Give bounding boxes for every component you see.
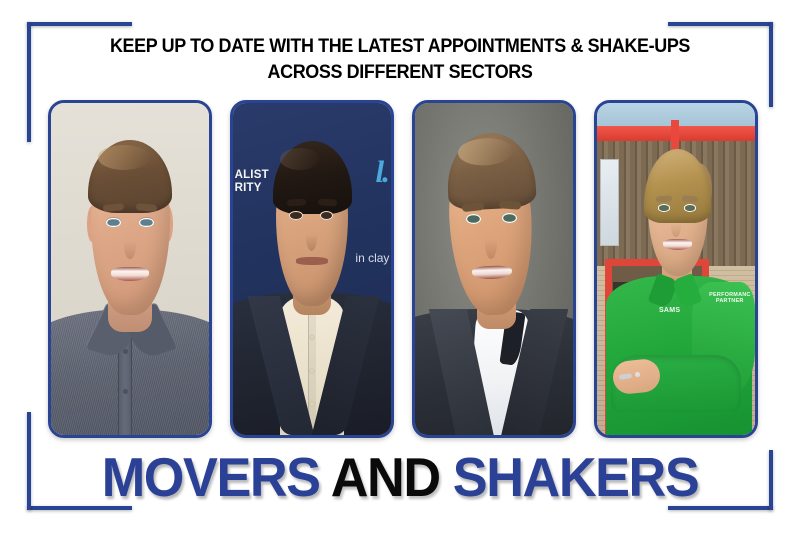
portrait-4-window xyxy=(600,159,619,245)
portrait-4-eye-left xyxy=(658,204,670,211)
portrait-4-eyebrow-right xyxy=(682,195,698,202)
portrait-3-nose xyxy=(485,226,498,259)
portrait-3-eyebrow-right xyxy=(498,200,521,209)
portrait-image-1 xyxy=(51,103,209,435)
portrait-image-3 xyxy=(415,103,573,435)
portrait-2-eye-left xyxy=(289,211,302,220)
portrait-gallery: l. ALIST RITY in clay xyxy=(48,100,754,438)
wordmark: MOVERS AND SHAKERS xyxy=(20,448,780,506)
portrait-card-3 xyxy=(412,100,576,438)
portrait-card-2: l. ALIST RITY in clay xyxy=(230,100,394,438)
wordmark-shakers: SHAKERS xyxy=(453,446,699,508)
portrait-1-eye-left xyxy=(106,218,120,228)
headline-text: KEEP UP TO DATE WITH THE LATEST APPOINTM… xyxy=(78,33,722,85)
portrait-4-red-post xyxy=(671,120,679,150)
portrait-4-nose xyxy=(671,214,680,237)
frame-segment-left-upper xyxy=(27,22,31,142)
frame-segment-right-upper xyxy=(769,22,773,107)
portrait-4-eye-right xyxy=(684,204,696,211)
portrait-image-4: SAMS PERFORMANCE PARTNER xyxy=(597,103,755,435)
poster-canvas: KEEP UP TO DATE WITH THE LATEST APPOINTM… xyxy=(0,0,800,533)
portrait-1-button-bottom xyxy=(123,389,128,394)
wordmark-and: AND xyxy=(331,446,453,508)
portrait-4-sleeve-logo: PERFORMANCE PARTNER xyxy=(709,292,750,319)
portrait-2-mouth xyxy=(296,257,328,264)
portrait-4-eyebrow-left xyxy=(656,195,672,202)
portrait-2-nose xyxy=(306,223,317,251)
portrait-1-eye-right xyxy=(139,218,153,228)
portrait-4-ring xyxy=(635,372,640,377)
portrait-3-eye-right xyxy=(502,213,517,223)
portrait-card-1 xyxy=(48,100,212,438)
portrait-4-smile xyxy=(663,239,691,250)
portrait-image-2: l. ALIST RITY in clay xyxy=(233,103,391,435)
frame-segment-top-right xyxy=(668,22,773,26)
portrait-1-nose xyxy=(124,229,135,259)
wordmark-movers: MOVERS xyxy=(102,446,331,508)
frame-segment-top-left xyxy=(27,22,132,26)
portrait-3-eye-left xyxy=(466,214,481,224)
portrait-2-eye-right xyxy=(320,211,333,220)
portrait-4-chest-logo: SAMS xyxy=(652,307,687,322)
portrait-card-4: SAMS PERFORMANCE PARTNER xyxy=(594,100,758,438)
